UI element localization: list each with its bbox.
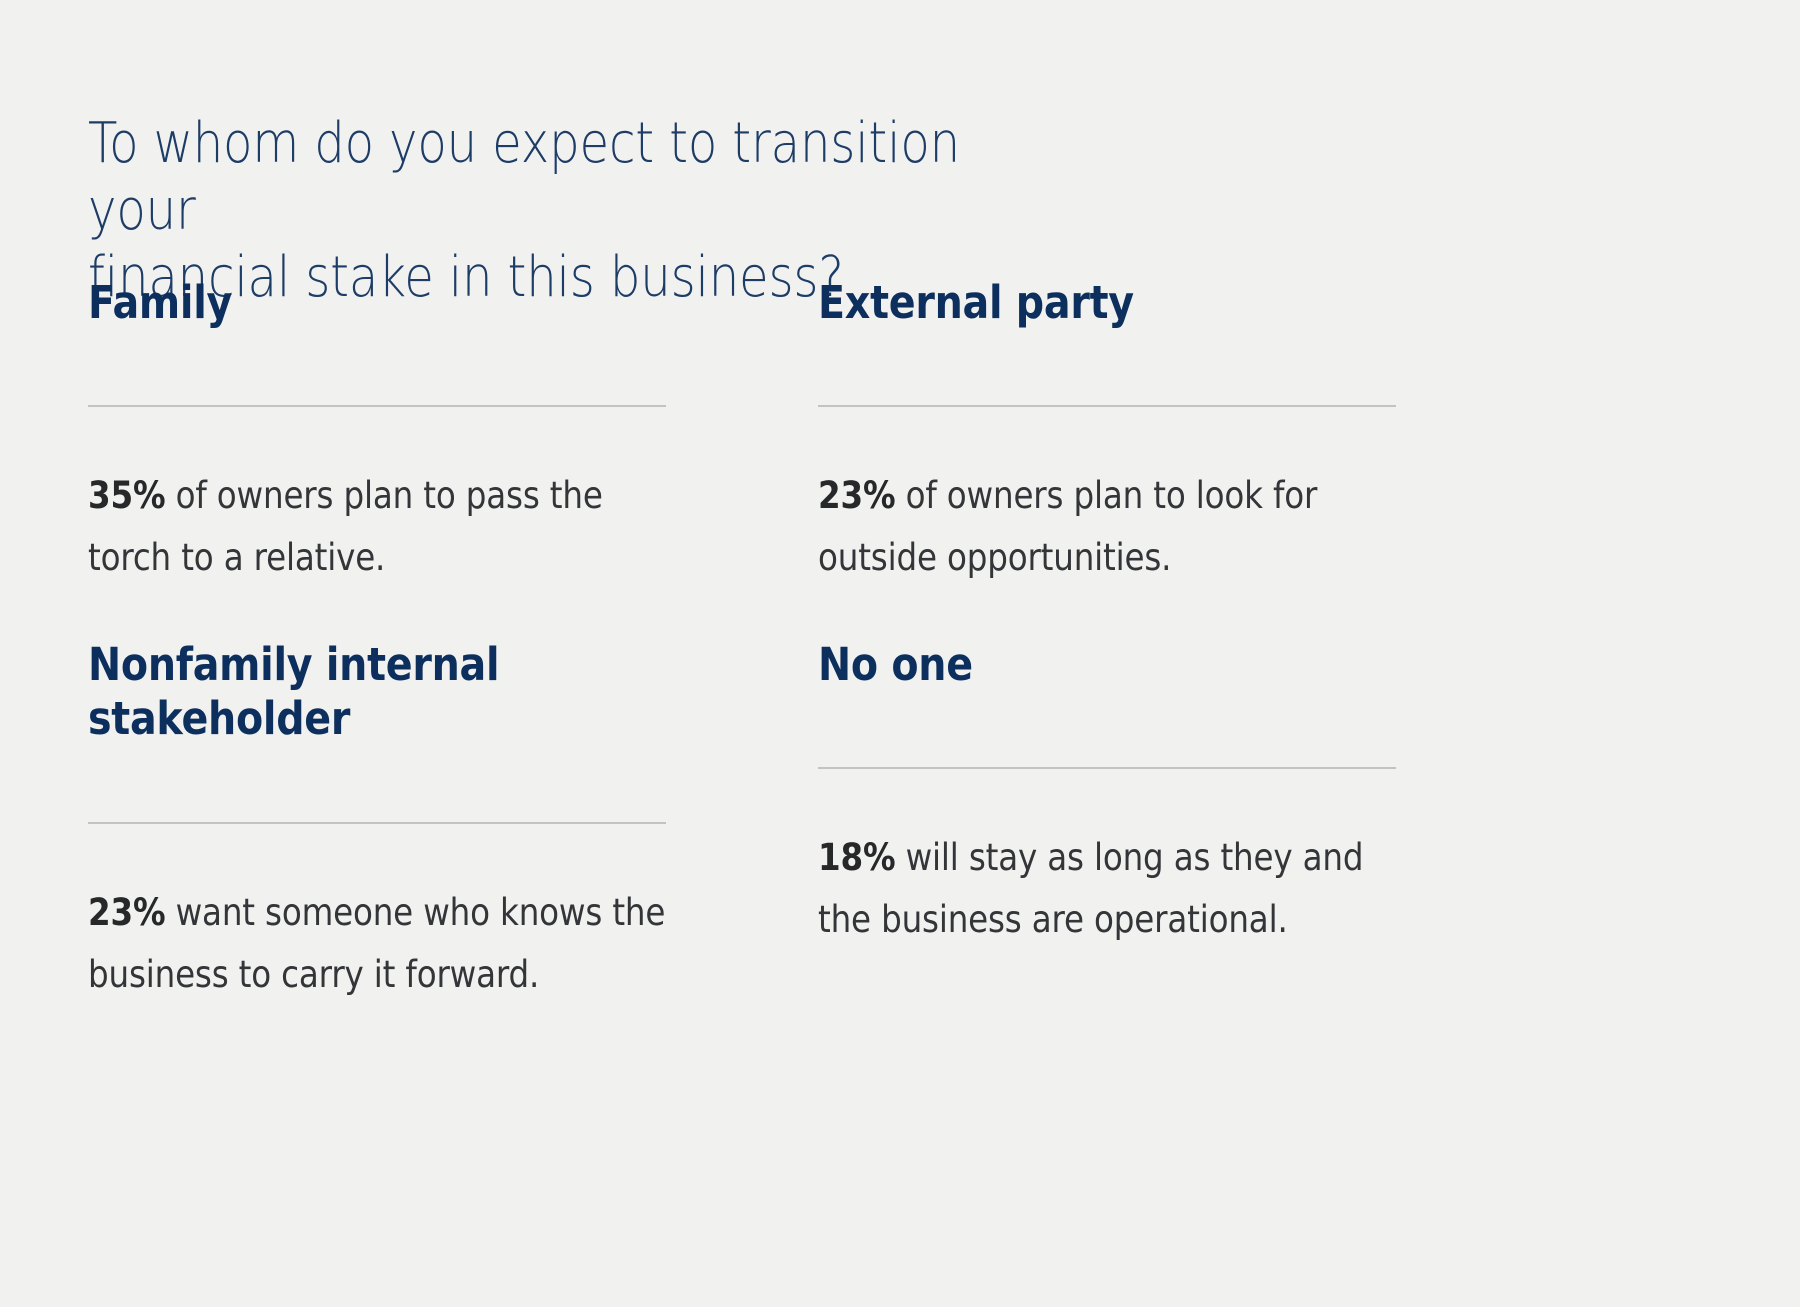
spacer [818, 329, 1396, 405]
stat-percent: 35% [88, 474, 165, 517]
stat-card-body: 35% of owners plan to pass the torch to … [88, 465, 669, 589]
spacer [818, 691, 1396, 767]
stat-card-external-party: External party 23% of owners plan to loo… [818, 276, 1396, 589]
stat-card-no-one: No one 18% will stay as long as they and… [818, 638, 1396, 951]
stat-percent: 23% [818, 474, 895, 517]
stat-description: want someone who knows the business to c… [88, 891, 665, 996]
stat-card-body: 23% of owners plan to look for outside o… [818, 465, 1399, 589]
spacer [88, 407, 666, 465]
stat-description: of owners plan to pass the torch to a re… [88, 474, 603, 579]
spacer [88, 329, 666, 405]
spacer [88, 824, 666, 882]
spacer [88, 746, 666, 822]
stat-card-body: 23% want someone who knows the business … [88, 882, 669, 1006]
infographic-page: To whom do you expect to transition your… [0, 0, 1800, 1307]
stat-card-nonfamily-internal-stakeholder: Nonfamily internal stakeholder 23% want … [88, 638, 666, 1006]
stat-card-body: 18% will stay as long as they and the bu… [818, 827, 1399, 951]
stat-card-heading: No one [818, 638, 1399, 691]
stat-card-heading: External party [818, 276, 1399, 329]
spacer [818, 769, 1396, 827]
stat-card-heading: Family [88, 276, 669, 329]
stat-card-heading: Nonfamily internal stakeholder [88, 638, 669, 746]
stat-percent: 18% [818, 836, 895, 879]
stat-card-family: Family 35% of owners plan to pass the to… [88, 276, 666, 589]
stat-percent: 23% [88, 891, 165, 934]
stat-description: will stay as long as they and the busine… [818, 836, 1363, 941]
spacer [818, 407, 1396, 465]
